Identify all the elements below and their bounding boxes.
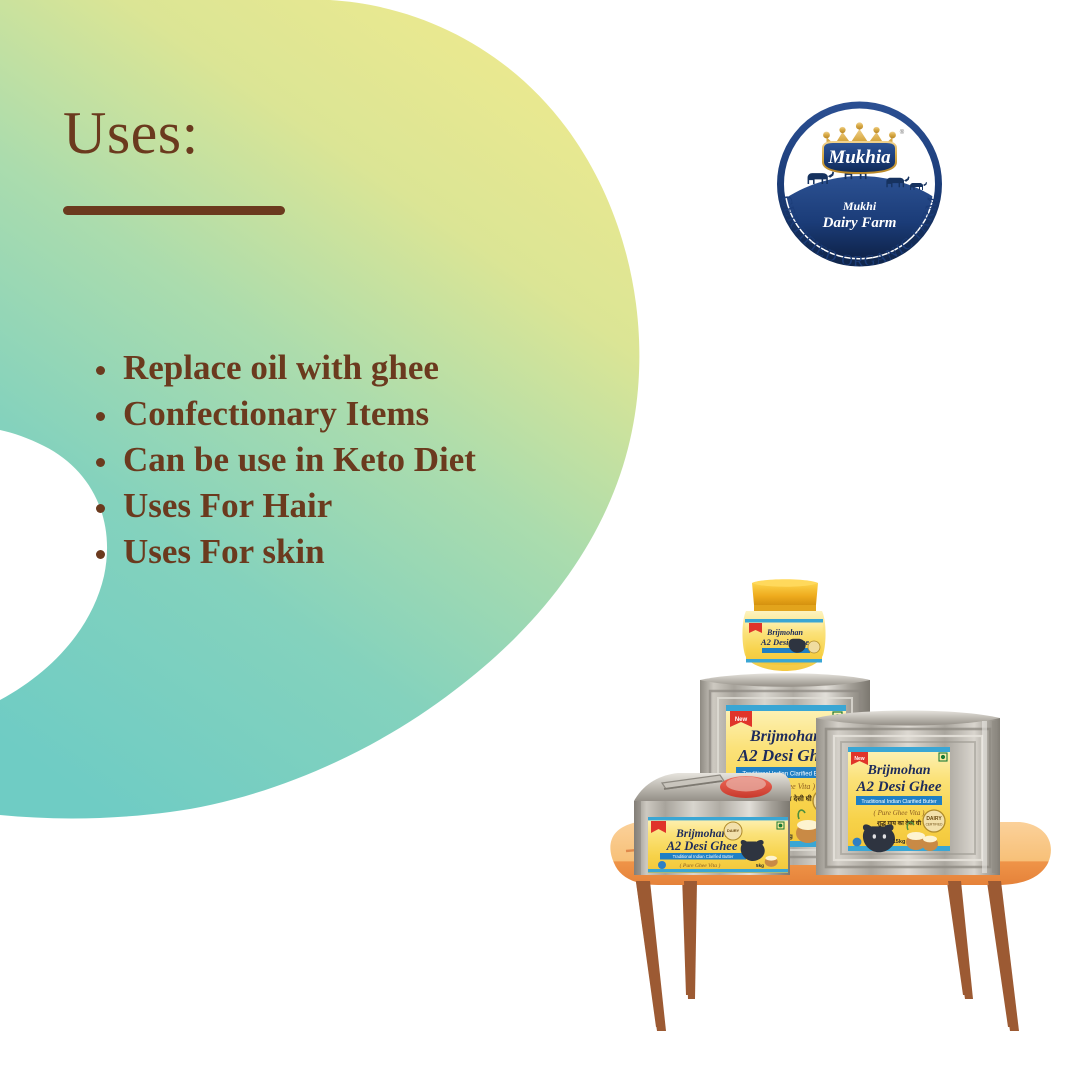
svg-text:DAIRY: DAIRY — [926, 816, 942, 822]
logo-script-line-2: Dairy Farm — [822, 215, 897, 231]
svg-text:( Pure Ghee Vita ): ( Pure Ghee Vita ) — [874, 809, 926, 817]
svg-text:Brijmohan: Brijmohan — [749, 728, 822, 745]
product-photo-group: New Brijmohan A2 Desi Ghee Traditional I… — [600, 575, 1060, 1065]
tall-tin-front-right: New Brijmohan A2 Desi Ghee Traditional I… — [816, 711, 1000, 876]
list-item: Can be use in Keto Diet — [92, 437, 612, 483]
small-jar: Brijmohan A2 Desi Ghee — [742, 579, 825, 671]
table-leg — [636, 881, 666, 1031]
svg-text:A2 Desi Ghee: A2 Desi Ghee — [856, 779, 942, 795]
list-item: Uses For skin — [92, 529, 612, 575]
list-item: Confectionary Items — [92, 391, 612, 437]
product-label: New Brijmohan A2 Desi Ghee Traditional I… — [848, 747, 950, 852]
poster-canvas: Uses: Replace oil with ghee Confectionar… — [0, 0, 1080, 1080]
table-front-legs — [636, 881, 1019, 1031]
logo-script-line-1: Mukhi — [842, 199, 877, 213]
svg-text:Traditional Indian Clarified B: Traditional Indian Clarified Butter — [861, 799, 937, 805]
list-item: Uses For Hair — [92, 483, 612, 529]
square-tin-front-left: Brijmohan A2 Desi Ghee Traditional India… — [634, 773, 791, 875]
svg-text:5kg: 5kg — [756, 863, 764, 868]
page-title: Uses: — [63, 103, 199, 164]
svg-text:15kg: 15kg — [893, 839, 906, 845]
title-underline-rule — [63, 206, 285, 215]
ghee-pot-illustration — [765, 856, 778, 867]
svg-text:Brijmohan: Brijmohan — [866, 763, 930, 778]
list-item: Replace oil with ghee — [92, 345, 612, 391]
svg-text:DAIRY: DAIRY — [727, 828, 740, 833]
svg-text:A2 Desi Ghee: A2 Desi Ghee — [666, 839, 738, 853]
svg-text:CERTIFIED: CERTIFIED — [926, 823, 943, 827]
mukhia-certified-organic-farm-logo: Mukhia ® Mukhi Dairy Farm CERTIFIED ORGA… — [757, 88, 962, 280]
svg-text:( Pure Ghee Vita ): ( Pure Ghee Vita ) — [680, 862, 721, 869]
registered-mark: ® — [900, 129, 905, 136]
svg-text:New: New — [854, 756, 864, 762]
svg-text:Brijmohan: Brijmohan — [766, 628, 804, 637]
product-label: Brijmohan A2 Desi Ghee Traditional India… — [648, 817, 788, 873]
logo-brand-name: Mukhia — [827, 147, 891, 168]
table-leg — [948, 881, 973, 999]
svg-text:शुद्ध गाय का देसी घी: शुद्ध गाय का देसी घी — [877, 819, 921, 827]
svg-text:Traditional Indian Clarified B: Traditional Indian Clarified Butter — [673, 854, 734, 859]
svg-text:New: New — [735, 717, 748, 723]
uses-list: Replace oil with ghee Confectionary Item… — [92, 345, 612, 575]
logo-brand-ribbon: Mukhia — [823, 142, 896, 173]
table-leg — [988, 881, 1019, 1031]
